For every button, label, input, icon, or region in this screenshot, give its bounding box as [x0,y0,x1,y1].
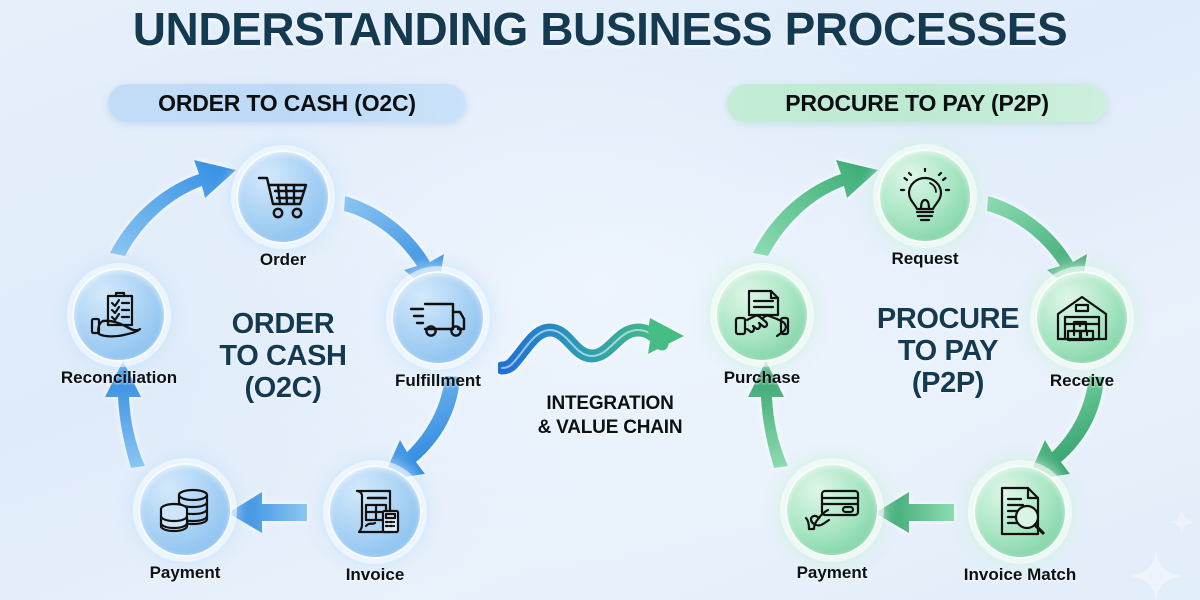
coin-stack-icon [157,485,213,535]
node-payment-left-disc [138,463,232,557]
node-request-label: Request [818,249,1032,269]
infographic-canvas: UNDERSTANDING BUSINESS PROCESSES ORDER T… [0,0,1200,600]
node-invoice-disc [328,465,422,559]
integration-label-line-2: & VALUE CHAIN [500,416,720,440]
node-order-label: Order [176,250,390,270]
node-invoice-match-label: Invoice Match [913,565,1127,585]
node-invoice-match[interactable]: Invoice Match [973,465,1067,559]
document-magnifier-icon [994,484,1046,540]
arrow-invoice-to-payment [228,492,307,533]
node-purchase[interactable]: Purchase [715,268,809,362]
warehouse-boxes-icon [1054,292,1110,344]
right-center-line-1: PROCURE [850,303,1046,335]
node-purchase-disc [715,268,809,362]
node-receive[interactable]: Receive [1035,271,1129,365]
sparkle-small-icon [1168,508,1196,536]
node-invoice-label: Invoice [268,565,482,585]
arrow-purchase-to-request [753,160,878,256]
node-payment-right-label: Payment [725,563,939,583]
lightbulb-icon [899,168,951,224]
node-invoice-match-disc [973,465,1067,559]
node-receive-disc [1035,271,1129,365]
invoice-document-icon [349,485,401,539]
node-order[interactable]: Order [236,150,330,244]
integration-value-chain-label: INTEGRATION & VALUE CHAIN [500,392,720,440]
clipboard-checklist-hand-icon [90,289,148,341]
node-fulfillment[interactable]: Fulfillment [391,271,485,365]
node-receive-label: Receive [975,371,1189,391]
node-request[interactable]: Request [878,149,972,243]
node-reconciliation-label: Reconciliation [12,368,226,388]
left-center-line-1: ORDER [185,308,381,340]
credit-card-hand-icon [803,486,861,534]
handshake-document-icon [733,288,791,342]
node-invoice[interactable]: Invoice [328,465,422,559]
node-purchase-label: Purchase [655,368,869,388]
node-payment-left-label: Payment [78,563,292,583]
node-fulfillment-label: Fulfillment [331,371,545,391]
node-fulfillment-disc [391,271,485,365]
node-request-disc [878,149,972,243]
node-reconciliation[interactable]: Reconciliation [72,268,166,362]
node-payment-right-disc [785,463,879,557]
right-center-line-2: TO PAY [850,335,1046,367]
sparkle-icon [1128,548,1184,600]
node-payment-right[interactable]: Payment [785,463,879,557]
shopping-cart-icon [255,171,311,223]
arrow-reconciliation-to-order [110,160,236,256]
integration-label-line-1: INTEGRATION [500,392,720,416]
arrow-invoice-match-to-payment [875,492,954,533]
node-payment-left[interactable]: Payment [138,463,232,557]
delivery-truck-icon [409,296,467,340]
node-order-disc [236,150,330,244]
node-reconciliation-disc [72,268,166,362]
